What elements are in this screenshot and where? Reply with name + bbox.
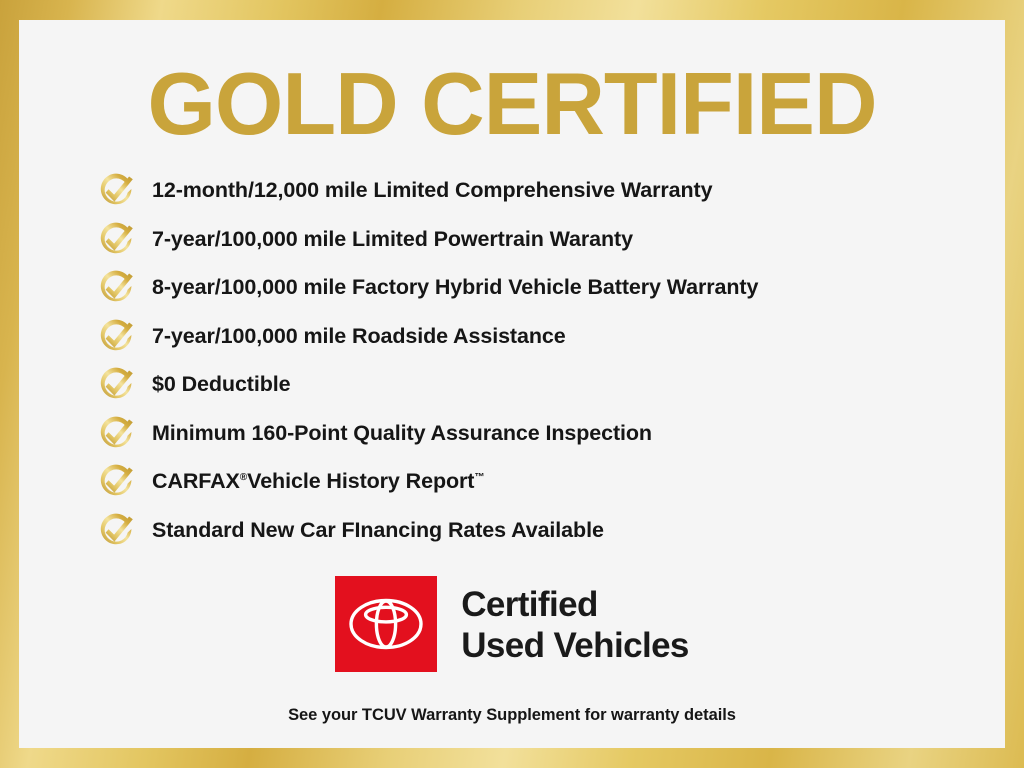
feature-text: 12-month/12,000 mile Limited Comprehensi…: [152, 178, 712, 202]
gold-check-circle-icon: [95, 411, 139, 455]
feature-text: $0 Deductible: [152, 372, 291, 396]
lockup-line-1: Certified: [461, 584, 689, 625]
gold-check-circle-icon: [95, 362, 139, 406]
feature-list: 12-month/12,000 mile Limited Comprehensi…: [95, 166, 995, 554]
page-title: GOLD CERTIFIED: [19, 56, 1005, 152]
lockup-text: Certified Used Vehicles: [461, 576, 689, 666]
list-item: 7-year/100,000 mile Roadside Assistance: [95, 312, 995, 361]
list-item: CARFAX®Vehicle History Report™: [95, 457, 995, 506]
list-item: Minimum 160-Point Quality Assurance Insp…: [95, 409, 995, 458]
gold-check-circle-icon: [95, 314, 139, 358]
feature-text: 8-year/100,000 mile Factory Hybrid Vehic…: [152, 275, 758, 299]
disclaimer-text: See your TCUV Warranty Supplement for wa…: [19, 704, 1005, 726]
toyota-logo-box: [335, 576, 437, 672]
lockup-line-2: Used Vehicles: [461, 625, 689, 666]
list-item: 7-year/100,000 mile Limited Powertrain W…: [95, 215, 995, 264]
gold-check-circle-icon: [95, 217, 139, 261]
gold-check-circle-icon: [95, 508, 139, 552]
list-item: $0 Deductible: [95, 360, 995, 409]
carfax-report-label: Vehicle History Report: [247, 469, 474, 493]
list-item: Standard New Car FInancing Rates Availab…: [95, 506, 995, 555]
gold-certified-badge: GOLD CERTIFIED: [0, 0, 1024, 768]
toyota-certified-used-vehicles-lockup: Certified Used Vehicles: [19, 576, 1005, 672]
list-item: 8-year/100,000 mile Factory Hybrid Vehic…: [95, 263, 995, 312]
feature-text: 7-year/100,000 mile Limited Powertrain W…: [152, 227, 633, 251]
feature-text: Standard New Car FInancing Rates Availab…: [152, 518, 604, 542]
feature-text: CARFAX®Vehicle History Report™: [152, 469, 484, 493]
gold-check-circle-icon: [95, 265, 139, 309]
gold-check-circle-icon: [95, 168, 139, 212]
feature-text: Minimum 160-Point Quality Assurance Insp…: [152, 421, 652, 445]
carfax-wordmark: CARFAX: [152, 469, 240, 493]
badge-card: GOLD CERTIFIED: [19, 20, 1005, 748]
trademark-mark: ™: [474, 472, 484, 483]
toyota-emblem-icon: [348, 598, 424, 650]
feature-text: 7-year/100,000 mile Roadside Assistance: [152, 324, 566, 348]
list-item: 12-month/12,000 mile Limited Comprehensi…: [95, 166, 995, 215]
gold-check-circle-icon: [95, 459, 139, 503]
